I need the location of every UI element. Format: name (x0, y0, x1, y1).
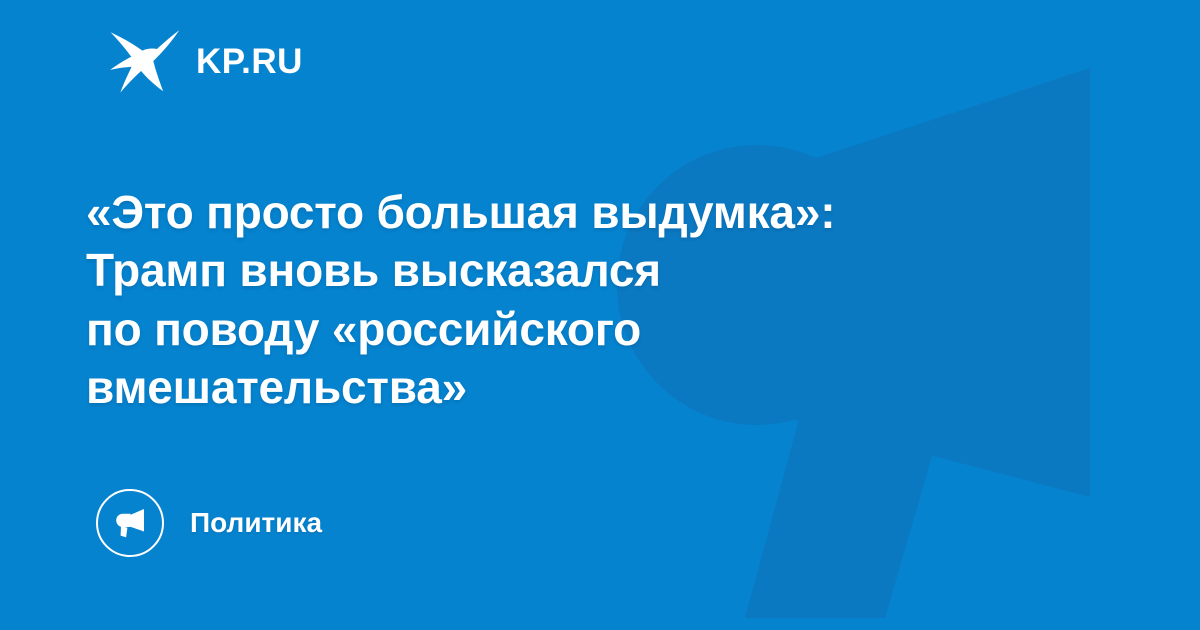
headline-line-1: «Это просто большая выдумка»: (86, 183, 1086, 241)
brand-name: KP.RU (196, 44, 303, 79)
rubric-icon-circle (96, 489, 164, 557)
headline-line-2: Трамп вновь высказался (86, 241, 1086, 299)
page-title: «Это просто большая выдумка»: Трамп внов… (86, 183, 1086, 417)
rubric-badge[interactable]: Политика (96, 488, 322, 558)
brand-logo[interactable]: KP.RU (106, 30, 303, 92)
megaphone-icon (113, 506, 147, 540)
swallow-bird-logo-icon (106, 28, 180, 94)
rubric-label: Политика (190, 509, 322, 537)
share-card: KP.RU «Это просто большая выдумка»: Трам… (0, 0, 1200, 630)
headline-line-3: по поводу «российского (86, 300, 1086, 358)
headline-line-4: вмешательства» (86, 358, 1086, 416)
